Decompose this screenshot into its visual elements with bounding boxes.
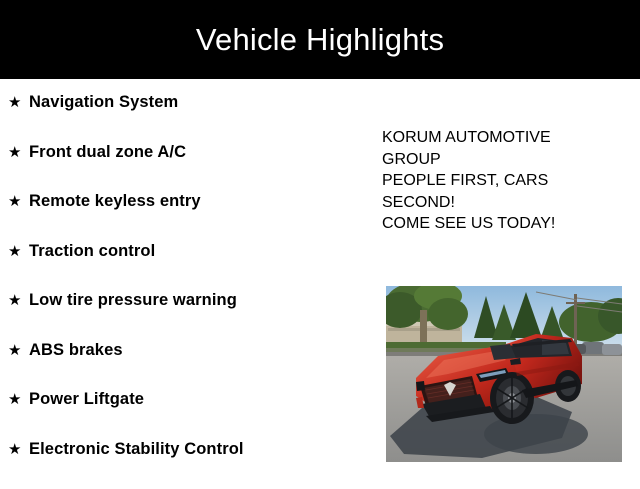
feature-label: ABS brakes [29,341,123,360]
feature-label: Traction control [29,242,155,261]
dealer-message-line: PEOPLE FIRST, CARS SECOND! [382,170,600,213]
page-title: Vehicle Highlights [196,24,444,55]
list-item: ★ Front dual zone A/C [0,143,370,193]
list-item: ★ Traction control [0,242,370,292]
feature-label: Electronic Stability Control [29,440,244,459]
list-item: ★ Remote keyless entry [0,192,370,242]
list-item: ★ Low tire pressure warning [0,291,370,341]
star-icon: ★ [8,392,29,407]
star-icon: ★ [8,95,29,110]
list-item: ★ ABS brakes [0,341,370,391]
star-icon: ★ [8,194,29,209]
feature-label: Power Liftgate [29,390,144,409]
star-icon: ★ [8,442,29,457]
feature-label: Low tire pressure warning [29,291,237,310]
star-icon: ★ [8,293,29,308]
list-item: ★ Electronic Stability Control [0,440,370,489]
header-banner: Vehicle Highlights [0,0,640,79]
dealer-message: KORUM AUTOMOTIVE GROUP PEOPLE FIRST, CAR… [382,127,600,235]
feature-label: Remote keyless entry [29,192,201,211]
feature-label: Navigation System [29,93,178,112]
vehicle-photo-graphic [386,286,622,462]
feature-label: Front dual zone A/C [29,143,186,162]
vehicle-photo [386,286,622,462]
star-icon: ★ [8,145,29,160]
content-area: ★ Navigation System ★ Front dual zone A/… [0,79,640,480]
list-item: ★ Power Liftgate [0,390,370,440]
dealer-message-line: COME SEE US TODAY! [382,213,600,235]
star-icon: ★ [8,343,29,358]
dealer-message-line: KORUM AUTOMOTIVE GROUP [382,127,600,170]
list-item: ★ Navigation System [0,93,370,143]
vehicle-features-list: ★ Navigation System ★ Front dual zone A/… [0,93,370,489]
star-icon: ★ [8,244,29,259]
